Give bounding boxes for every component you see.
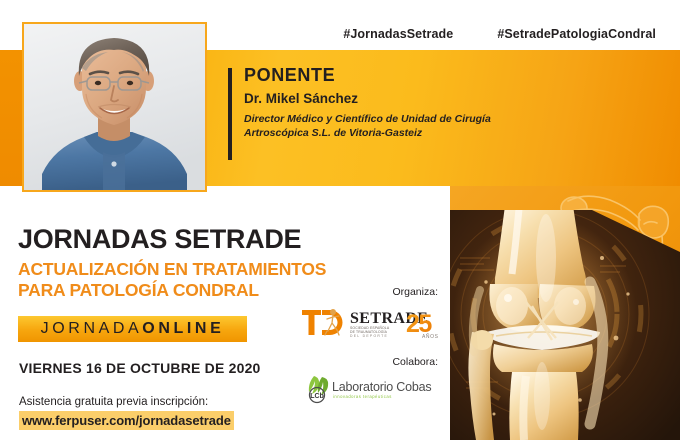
banner-word-jornada: JORNADA xyxy=(41,320,143,338)
hashtag-jornadas-setrade: #JornadasSetrade xyxy=(343,27,453,41)
event-poster: #JornadasSetrade #SetradePatologiaCondra… xyxy=(0,0,680,440)
online-format-banner: JORNADAONLINE xyxy=(18,316,247,342)
panel-divider xyxy=(447,186,450,440)
speaker-name: Dr. Mikel Sánchez xyxy=(244,92,519,107)
speaker-accent-bar xyxy=(228,68,232,160)
cobas-wordmark: Laboratorio Cobas xyxy=(332,380,431,394)
event-title: JORNADAS SETRADE xyxy=(18,226,338,253)
title-block: JORNADAS SETRADE ACTUALIZACIÓN EN TRATAM… xyxy=(18,226,338,300)
leaf-icon: LCb xyxy=(309,376,328,403)
speaker-section-label: PONENTE xyxy=(244,66,519,85)
speaker-role-line-2: Artroscópica S.L. de Vitoria-Gasteiz xyxy=(244,127,519,141)
registration-url[interactable]: www.ferpuser.com/jornadasetrade xyxy=(19,411,234,430)
colabora-label: Colabora: xyxy=(300,356,438,368)
cobas-tagline: innovadoras terapéuticas xyxy=(333,394,392,399)
speaker-portrait-illustration xyxy=(24,24,205,190)
setrade-tagline-3: DEL DEPORTE xyxy=(350,334,388,338)
speaker-block: PONENTE Dr. Mikel Sánchez Director Médic… xyxy=(228,66,518,166)
event-date: VIERNES 16 DE OCTUBRE DE 2020 xyxy=(19,360,261,376)
header-left-tab xyxy=(0,50,24,186)
speaker-role-line-1: Director Médico y Científico de Unidad d… xyxy=(244,113,519,127)
artwork-panel xyxy=(450,186,680,440)
banner-word-online: ONLINE xyxy=(142,320,224,338)
artwork-svg xyxy=(450,186,680,440)
cobas-mark: LCb xyxy=(310,393,324,400)
laboratorio-cobas-logo: LCb Laboratorio Cobas innovadoras terapé… xyxy=(300,372,440,404)
speaker-photo xyxy=(22,22,207,192)
registration-note: Asistencia gratuita previa inscripción: xyxy=(19,396,234,408)
event-subtitle-line-2: PARA PATOLOGÍA CONDRAL xyxy=(18,281,338,301)
speaker-text: PONENTE Dr. Mikel Sánchez Director Médic… xyxy=(244,66,519,140)
organiza-label: Organiza: xyxy=(300,286,438,298)
registration-block: Asistencia gratuita previa inscripción: … xyxy=(19,396,234,430)
hashtag-setrade-patologia-condral: #SetradePatologiaCondral xyxy=(497,27,656,41)
event-subtitle-line-1: ACTUALIZACIÓN EN TRATAMIENTOS xyxy=(18,260,338,280)
sponsor-column: Organiza: SETRADE SOCIEDA xyxy=(300,286,445,404)
setrade-logo: SETRADE SOCIEDAD ESPAÑOLA DE TRAUMATOLOG… xyxy=(300,302,440,342)
anniversary-word: AÑOS xyxy=(422,333,439,340)
